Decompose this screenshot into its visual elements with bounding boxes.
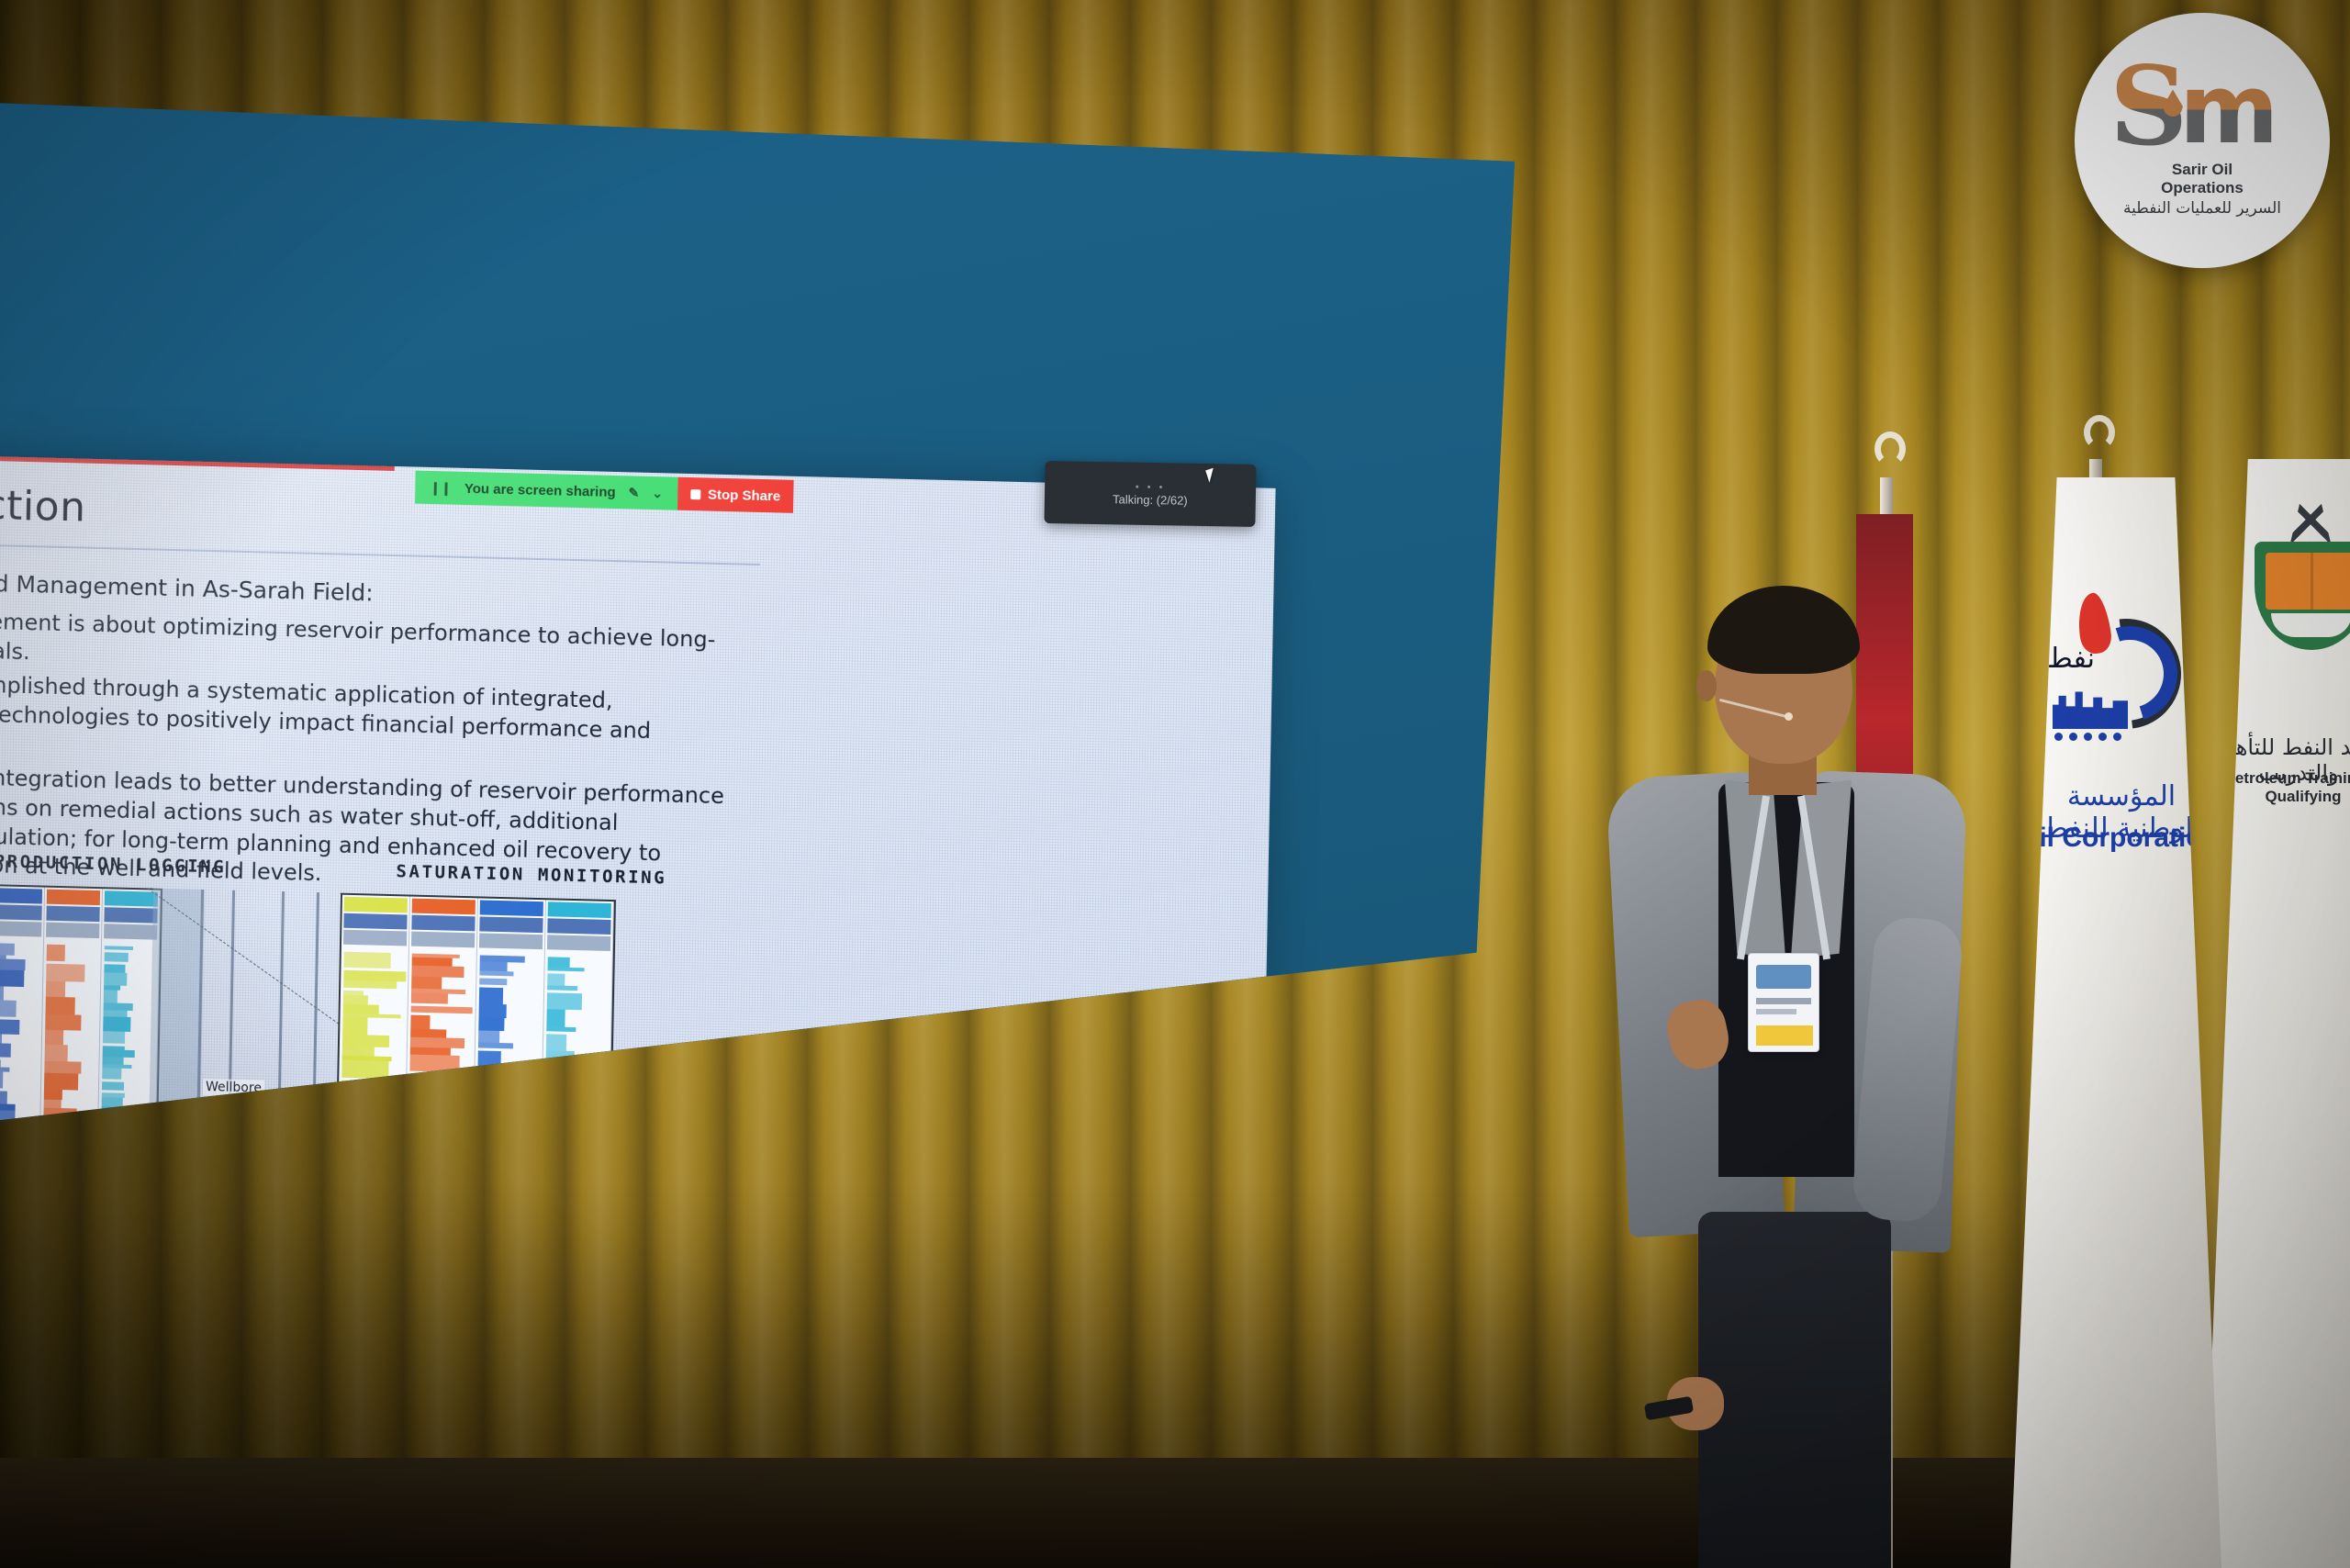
log-sample [411, 977, 442, 990]
ptq-emblem-icon [2240, 485, 2350, 668]
log-sample [105, 952, 129, 962]
log-sample [546, 1009, 565, 1027]
log-sample [478, 1042, 514, 1048]
brand-name-arabic: السرير للعمليات النفطية [2123, 199, 2281, 218]
log-sample [102, 1097, 123, 1107]
log-sample [0, 958, 26, 970]
log-sample [44, 1090, 62, 1100]
track-header-chip [0, 888, 42, 903]
presentation-scene: • • • Talking: (2/62) ❙❙ You are screen … [0, 0, 2350, 1568]
zoom-screenshare-bar[interactable]: ❙❙ You are screen sharing ✎ ⌄ Stop Share [415, 471, 793, 513]
log-sample [45, 1045, 68, 1062]
log-sample [45, 1030, 63, 1045]
log-sample [46, 981, 65, 998]
track-header-chip [343, 930, 407, 946]
track-header-chip [0, 904, 42, 920]
log-sample [343, 995, 368, 1005]
log-sample [479, 987, 503, 1004]
log-sample [103, 1031, 125, 1044]
noc-emblem-icon: نفط [2047, 593, 2185, 749]
track-header-chip [47, 890, 100, 905]
trousers [1698, 1212, 1891, 1568]
hair [1707, 586, 1860, 674]
pencil-icon[interactable]: ✎ [628, 485, 639, 500]
log-sample [0, 1043, 11, 1058]
zoom-floating-toolbar[interactable]: • • • Talking: (2/62) [1044, 461, 1256, 527]
log-sample [548, 957, 570, 968]
log-sample [44, 1073, 78, 1091]
track-header-chip [46, 923, 99, 938]
screen-sharing-label: You are screen sharing [464, 480, 616, 499]
log-sample [411, 993, 448, 1004]
log-sample [102, 1068, 121, 1080]
conference-badge [1748, 953, 1819, 1052]
log-sample [0, 943, 15, 956]
stop-share-label: Stop Share [708, 487, 780, 504]
log-sample [546, 1026, 576, 1032]
noc-dots-icon [2054, 733, 2121, 741]
log-sample [0, 1034, 2, 1043]
track-header-chip [411, 932, 475, 948]
log-sample [46, 997, 75, 1015]
production-logging-tracks [0, 883, 161, 890]
screen-sharing-indicator: ❙❙ You are screen sharing ✎ ⌄ [415, 471, 677, 510]
track-header-chip [104, 924, 157, 939]
log-sample [102, 1081, 124, 1091]
stop-square-icon [690, 489, 700, 499]
log-sample [105, 946, 133, 950]
log-sample [44, 1100, 62, 1108]
log-sample [478, 1030, 499, 1043]
track-header-chip [547, 935, 610, 951]
log-sample [47, 964, 85, 982]
speaker-figure [1561, 569, 2001, 1568]
title-divider [0, 538, 760, 565]
flagpole-finial-icon [1874, 431, 1906, 466]
headset-mic-tip [1785, 712, 1793, 721]
track-header-chip [344, 897, 408, 913]
log-sample [479, 978, 507, 985]
track-header-chip [412, 899, 476, 915]
ear [1696, 670, 1717, 701]
log-sample [46, 1014, 82, 1031]
ptq-base-shape [2271, 613, 2350, 637]
log-sample [104, 972, 127, 986]
zoom-talking-indicator: Talking: (2/62) [1056, 491, 1245, 509]
track-header-chip [411, 915, 475, 932]
stop-share-button[interactable]: Stop Share [677, 477, 794, 513]
log-sample [479, 1003, 507, 1018]
log-sample [0, 1019, 19, 1035]
track-header-chip [480, 900, 543, 916]
log-sample [344, 952, 391, 969]
log-sample [0, 986, 4, 1000]
log-sample [547, 973, 565, 985]
log-sample [45, 1061, 82, 1074]
saturation-monitoring-tracks [342, 895, 614, 902]
log-sample [547, 985, 577, 991]
track-header-chip [479, 916, 543, 933]
log-sample [410, 1015, 430, 1030]
track-header-chip [105, 907, 158, 923]
track-header-chip [0, 921, 42, 936]
sarir-oil-operations-badge: S S m m Sarir Oil Operations السرير للعم… [2075, 13, 2330, 268]
book-icon [2266, 553, 2350, 610]
log-sample [0, 1091, 7, 1104]
log-sample [104, 990, 117, 1002]
log-sample [478, 1017, 505, 1031]
slide-lead-line: rvoir Monitoring and Management in As-Sa… [0, 565, 732, 615]
bullet-item: Reservoir management is about optimizing… [0, 602, 732, 684]
brand-name-line2: Operations [2161, 179, 2244, 196]
log-sample [342, 1017, 368, 1036]
flagpole-finial-icon [2084, 415, 2115, 450]
track-header-chip [105, 890, 158, 906]
track-header-chip [547, 918, 610, 935]
log-sample [0, 1071, 3, 1088]
track-header-chip [479, 933, 543, 949]
log-sample [103, 1016, 130, 1032]
track-header-chip [343, 913, 407, 930]
log-sample [343, 980, 397, 989]
slide-title: troduction [0, 479, 86, 532]
log-sample [47, 945, 65, 961]
sarir-logo-icon: S S m m [2106, 58, 2299, 161]
log-sample [0, 1000, 17, 1017]
bullet-item: This can be accomplished through a syste… [0, 666, 730, 778]
log-sample [479, 970, 513, 976]
slide-accent-bar [0, 454, 395, 471]
pause-icon[interactable]: ❙❙ [430, 479, 452, 496]
log-sample [0, 969, 24, 987]
log-sample [342, 1035, 389, 1047]
log-sample [546, 1034, 566, 1051]
more-icon[interactable]: ⌄ [652, 485, 663, 500]
log-sample [547, 992, 583, 1010]
noc-arabic-short: نفط [2047, 643, 2095, 675]
track-header-chip [548, 902, 611, 918]
log-sample [341, 1060, 388, 1079]
track-header-chip [47, 906, 100, 922]
